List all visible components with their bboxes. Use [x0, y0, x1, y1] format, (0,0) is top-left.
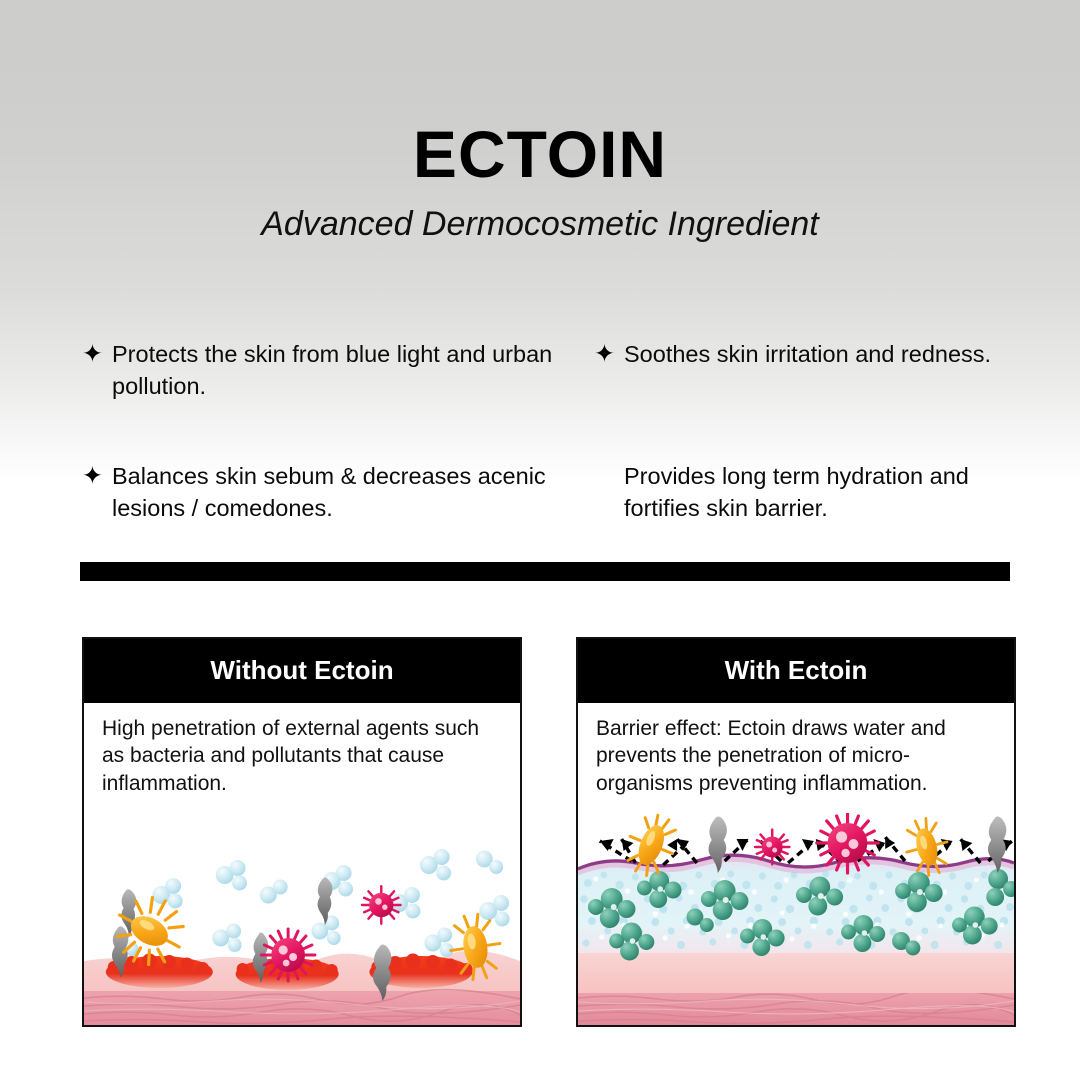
- four-point-star-icon: ✦: [594, 338, 624, 371]
- benefit-text: Provides long term hydration and fortifi…: [624, 460, 1012, 525]
- benefit-item-2: ✦ Soothes skin irritation and redness.: [594, 338, 1012, 460]
- benefit-item-3: ✦ Balances skin sebum & decreases acenic…: [82, 460, 594, 525]
- panel-without-ectoin: Without Ectoin High penetration of exter…: [82, 637, 522, 1027]
- panel-heading: Without Ectoin: [82, 637, 522, 703]
- panel-description: Barrier effect: Ectoin draws water and p…: [578, 703, 1014, 803]
- page-subtitle: Advanced Dermocosmetic Ingredient: [0, 205, 1080, 244]
- panel-heading: With Ectoin: [576, 637, 1016, 703]
- benefit-item-1: ✦ Protects the skin from blue light and …: [82, 338, 594, 460]
- infographic-page: ECTOIN Advanced Dermocosmetic Ingredient…: [0, 0, 1080, 1080]
- benefits-list: ✦ Protects the skin from blue light and …: [82, 338, 1012, 525]
- benefit-text: Soothes skin irritation and redness.: [624, 338, 1012, 370]
- benefit-text: Balances skin sebum & decreases acenic l…: [112, 460, 594, 525]
- section-divider-bar: [80, 562, 1010, 581]
- page-title: ECTOIN: [0, 120, 1080, 189]
- panel-with-ectoin: With Ectoin Barrier effect: Ectoin draws…: [576, 637, 1016, 1027]
- four-point-star-icon: ✦: [82, 460, 112, 493]
- panel-description: High penetration of external agents such…: [84, 703, 520, 803]
- skin-penetration-illustration: [84, 843, 520, 1025]
- benefit-item-4: Provides long term hydration and fortifi…: [594, 460, 1012, 525]
- four-point-star-icon: ✦: [82, 338, 112, 371]
- benefit-text: Protects the skin from blue light and ur…: [112, 338, 594, 403]
- ectoin-barrier-illustration: [578, 813, 1014, 1025]
